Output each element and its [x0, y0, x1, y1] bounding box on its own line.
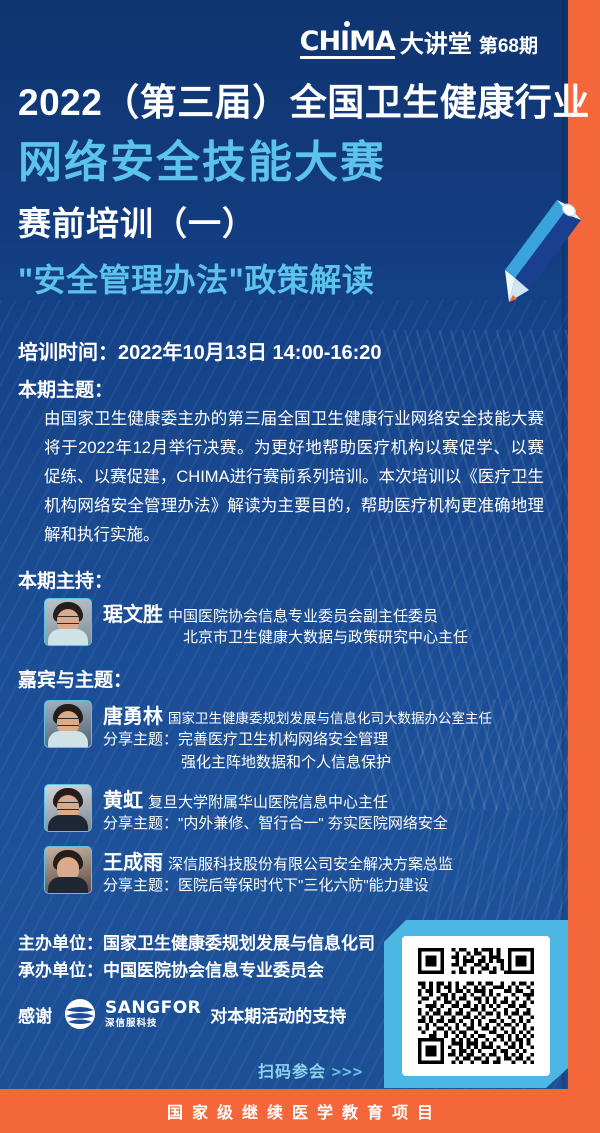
sangfor-wordmark: SANGFOR 深信服科技 [105, 1000, 201, 1029]
list-item: 黄虹复旦大学附属华山医院信息中心主任 分享主题："内外兼修、智行合一" 夯实医院… [44, 784, 564, 836]
sangfor-logo: SANGFOR 深信服科技 [61, 998, 201, 1030]
orange-side-bar [568, 0, 600, 1090]
guest-title: 复旦大学附属华山医院信息中心主任 [148, 794, 388, 811]
title-line-1: 2022（第三届）全国卫生健康行业 [18, 84, 558, 123]
topic-label: 分享主题： [103, 815, 178, 832]
training-time: 培训时间：2022年10月13日 14:00-16:20 [18, 336, 382, 365]
guest-list: 唐勇林国家卫生健康委规划发展与信息化司大数据办公室主任 分享主题：完善医疗卫生机… [44, 700, 564, 907]
pencil-icon [495, 198, 585, 313]
avatar [44, 700, 92, 748]
scan-to-join-text: 扫码参会 >>> [258, 1058, 363, 1082]
guest-topic-1: 分享主题：完善医疗卫生机构网络安全管理 [103, 729, 492, 752]
theme-heading: 本期主题： [18, 375, 113, 402]
scan-label: 扫码参会 [258, 1064, 326, 1081]
title-line-3: 赛前培训（一） [18, 207, 256, 242]
guest-topic-1: 分享主题："内外兼修、智行合一" 夯实医院网络安全 [103, 813, 448, 836]
thanks-prefix: 感谢 [18, 1002, 52, 1027]
issue-number: 第68期 [479, 37, 538, 59]
guest-title: 国家卫生健康委规划发展与信息化司大数据办公室主任 [168, 711, 492, 726]
sangfor-name-en: SANGFOR [105, 1000, 201, 1017]
topic-text: 医院后等保时代下"三化六防"能力建设 [178, 877, 429, 894]
avatar [44, 846, 92, 894]
host-row: 琚文胜中国医院协会信息专业委员会副主任委员 北京市卫生健康大数据与政策研究中心主… [44, 598, 468, 650]
guest-title: 深信服科技股份有限公司安全解决方案总监 [168, 856, 453, 873]
guest-name: 唐勇林 [103, 706, 163, 728]
list-item: 唐勇林国家卫生健康委规划发展与信息化司大数据办公室主任 分享主题：完善医疗卫生机… [44, 700, 564, 774]
title-line-2: 网络安全技能大赛 [18, 140, 558, 186]
list-item: 王成雨深信服科技股份有限公司安全解决方案总监 分享主题：医院后等保时代下"三化六… [44, 846, 564, 898]
sangfor-mark-icon [61, 998, 99, 1030]
guest-name: 黄虹 [103, 790, 143, 812]
guest-topic-1: 分享主题：医院后等保时代下"三化六防"能力建设 [103, 875, 453, 898]
organizer-block: 主办单位：国家卫生健康委规划发展与信息化司 承办单位：中国医院协会信息专业委员会 [18, 930, 375, 984]
guest-line-1: 唐勇林国家卫生健康委规划发展与信息化司大数据办公室主任 [103, 700, 492, 729]
chima-dot-icon [344, 21, 350, 27]
guests-heading: 嘉宾与主题： [18, 665, 132, 692]
scan-arrows: >>> [331, 1062, 363, 1081]
host-title-2: 北京市卫生健康大数据与政策研究中心主任 [183, 627, 468, 650]
footer-banner: 国家级继续医学教育项目 [0, 1089, 600, 1133]
guest-info: 唐勇林国家卫生健康委规划发展与信息化司大数据办公室主任 分享主题：完善医疗卫生机… [103, 700, 492, 774]
host-organization: 主办单位：国家卫生健康委规划发展与信息化司 [18, 930, 375, 957]
avatar [44, 598, 92, 646]
sangfor-name-cn: 深信服科技 [105, 1019, 201, 1029]
brand-row: CHIMA 大讲堂 第68期 [300, 28, 538, 59]
guest-info: 黄虹复旦大学附属华山医院信息中心主任 分享主题："内外兼修、智行合一" 夯实医院… [103, 784, 448, 836]
guest-name: 王成雨 [103, 852, 163, 874]
brand-cn-label: 大讲堂 [400, 33, 472, 59]
host-info: 琚文胜中国医院协会信息专业委员会副主任委员 北京市卫生健康大数据与政策研究中心主… [103, 598, 468, 650]
qr-code-image[interactable] [412, 944, 540, 1068]
thanks-suffix: 对本期活动的支持 [210, 1002, 346, 1027]
guest-topic-2: 强化主阵地数据和个人信息保护 [181, 752, 492, 775]
host-heading: 本期主持： [18, 566, 113, 593]
guest-line-1: 王成雨深信服科技股份有限公司安全解决方案总监 [103, 846, 453, 875]
topic-label: 分享主题： [103, 877, 178, 894]
topic-text: 完善医疗卫生机构网络安全管理 [178, 731, 388, 748]
sponsor-row: 感谢 SANGFOR 深信服科技 对本期活动的支持 [18, 998, 346, 1030]
host-name: 琚文胜 [103, 604, 163, 626]
title-line-4: "安全管理办法"政策解读 [18, 264, 374, 298]
host-line-1: 琚文胜中国医院协会信息专业委员会副主任委员 [103, 598, 468, 627]
poster-root: CHIMA 大讲堂 第68期 2022（第三届）全国卫生健康行业 网络安全技能大… [0, 0, 600, 1133]
qr-code-frame[interactable] [402, 936, 550, 1076]
guest-line-1: 黄虹复旦大学附属华山医院信息中心主任 [103, 784, 448, 813]
avatar [44, 784, 92, 832]
guest-info: 王成雨深信服科技股份有限公司安全解决方案总监 分享主题：医院后等保时代下"三化六… [103, 846, 453, 898]
topic-label: 分享主题： [103, 731, 178, 748]
host-title-1: 中国医院协会信息专业委员会副主任委员 [168, 608, 438, 625]
theme-body: 由国家卫生健康委主办的第三届全国卫生健康行业网络安全技能大赛将于2022年12月… [44, 405, 544, 549]
footer-banner-text: 国家级继续医学教育项目 [158, 1099, 442, 1123]
chima-logo-text: CHIMA [300, 26, 395, 57]
topic-text: "内外兼修、智行合一" 夯实医院网络安全 [178, 815, 448, 832]
chima-logo: CHIMA [300, 28, 395, 59]
co-organization: 承办单位：中国医院协会信息专业委员会 [18, 957, 375, 984]
